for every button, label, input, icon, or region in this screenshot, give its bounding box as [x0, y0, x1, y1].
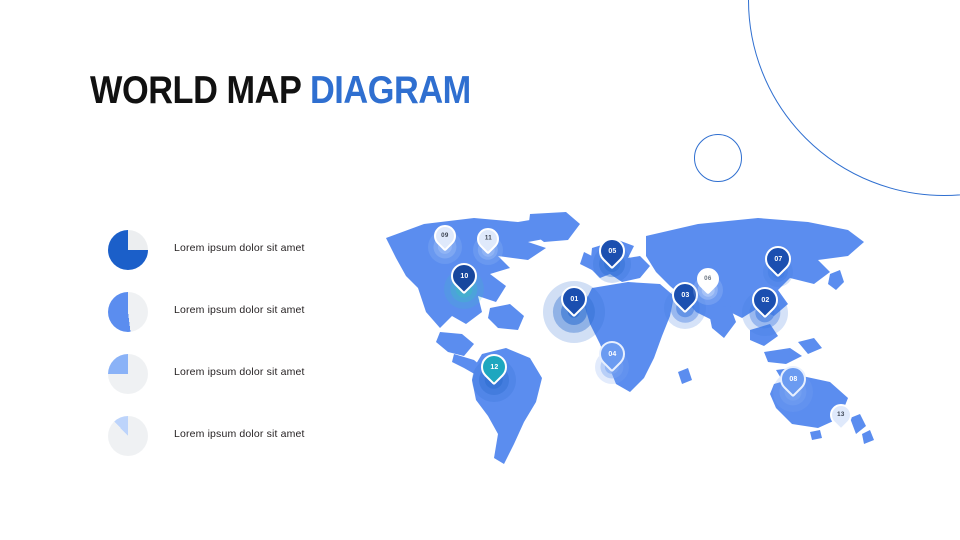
map-marker-02[interactable]: 02 [752, 287, 778, 313]
world-map-shape [378, 212, 878, 477]
slide-root: WORLD MAP DIAGRAM Lorem ipsum dolor sit … [0, 0, 960, 540]
legend-pie-chart-2 [108, 292, 148, 332]
map-pin-label: 02 [761, 297, 769, 304]
map-marker-05[interactable]: 05 [599, 238, 625, 264]
legend-item-label: Lorem ipsum dolor sit amet [174, 304, 305, 316]
map-pin-label: 10 [460, 273, 468, 280]
map-pin-label: 07 [774, 256, 782, 263]
map-pin-label: 12 [490, 364, 498, 371]
map-pin-icon[interactable]: 04 [594, 336, 631, 373]
decorative-circle-large-icon [748, 0, 960, 196]
map-pin-label: 03 [681, 292, 689, 299]
map-marker-10[interactable]: 10 [451, 263, 477, 289]
map-marker-13[interactable]: 13 [830, 404, 852, 426]
map-pin-icon[interactable]: 13 [825, 399, 856, 430]
map-pin-icon[interactable]: 11 [472, 223, 503, 254]
legend-pie-chart-4 [108, 416, 148, 456]
map-pin-label: 05 [608, 248, 616, 255]
decorative-circle-small-icon [694, 134, 742, 182]
map-pin-label: 09 [441, 233, 448, 239]
map-marker-07[interactable]: 07 [765, 246, 791, 272]
legend-item-label: Lorem ipsum dolor sit amet [174, 366, 305, 378]
map-pin-icon[interactable]: 01 [556, 281, 593, 318]
map-marker-12[interactable]: 12 [481, 354, 507, 380]
map-pin-label: 06 [704, 276, 711, 282]
map-marker-06[interactable]: 06 [697, 268, 719, 290]
map-pin-icon[interactable]: 09 [429, 220, 460, 251]
map-marker-03[interactable]: 03 [672, 282, 698, 308]
legend-pie-chart-3 [108, 354, 148, 394]
map-pin-label: 04 [608, 351, 616, 358]
map-pin-label: 11 [485, 236, 492, 242]
map-marker-11[interactable]: 11 [477, 228, 499, 250]
map-marker-09[interactable]: 09 [434, 225, 456, 247]
map-pin-icon[interactable]: 07 [760, 241, 797, 278]
map-pin-icon[interactable]: 05 [594, 233, 631, 270]
map-pin-icon[interactable]: 12 [476, 349, 513, 386]
page-title-accent: DIAGRAM [310, 69, 471, 112]
map-pin-icon[interactable]: 02 [747, 282, 784, 319]
page-title: WORLD MAP DIAGRAM [90, 70, 471, 112]
map-pin-label: 01 [570, 296, 578, 303]
legend-item-label: Lorem ipsum dolor sit amet [174, 428, 305, 440]
page-title-primary: WORLD MAP [90, 69, 310, 112]
map-pin-icon[interactable]: 06 [692, 263, 723, 294]
map-pin-icon[interactable]: 08 [775, 361, 812, 398]
world-map: 01020304050607080910111213 [378, 212, 878, 477]
map-pin-icon[interactable]: 10 [446, 258, 483, 295]
legend-pie-chart-1 [108, 230, 148, 270]
map-pin-label: 13 [837, 412, 844, 418]
map-pin-label: 08 [789, 376, 797, 383]
map-marker-04[interactable]: 04 [599, 341, 625, 367]
map-marker-01[interactable]: 01 [561, 286, 587, 312]
legend-item-label: Lorem ipsum dolor sit amet [174, 242, 305, 254]
map-marker-08[interactable]: 08 [780, 366, 806, 392]
